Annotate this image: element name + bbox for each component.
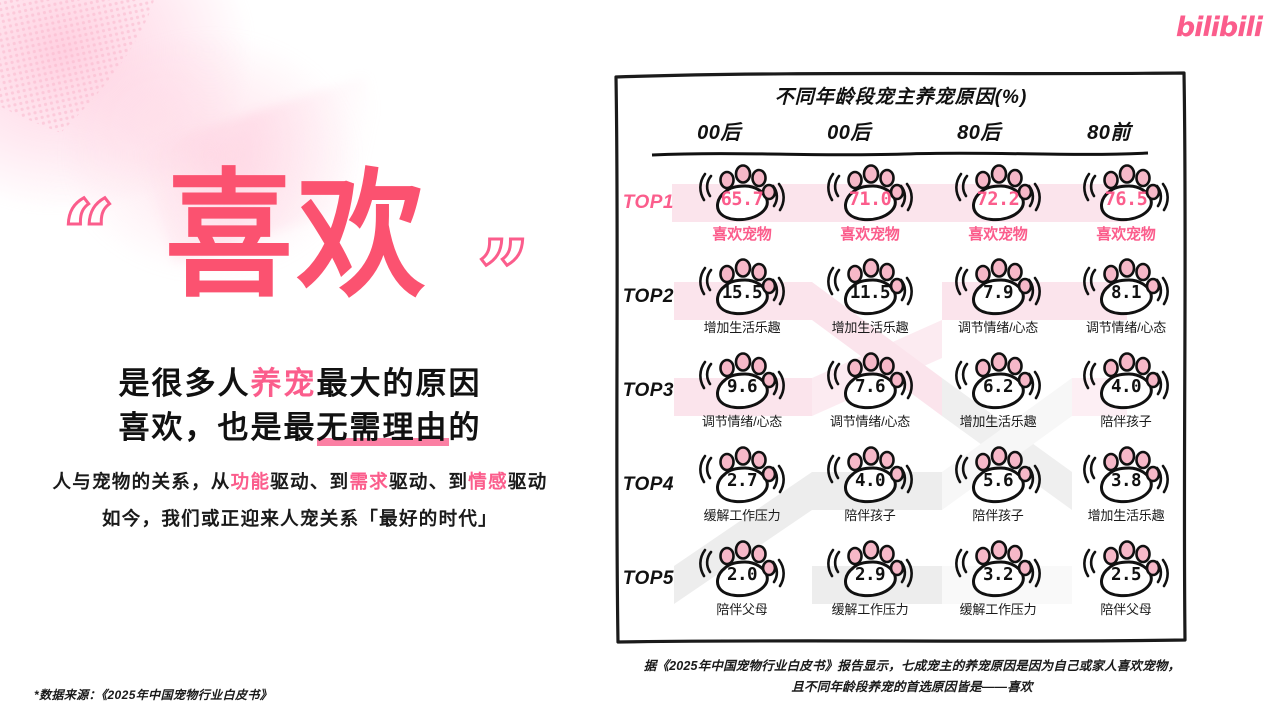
cell-value: 4.0 xyxy=(1083,377,1169,397)
paw-icon: 7.6 xyxy=(827,348,913,410)
cell-label: 调节情绪/心态 xyxy=(830,411,910,430)
body-text-block: 人与宠物的关系，从功能驱动、到需求驱动、到情感驱动 如今，我们或正迎来人宠关系「… xyxy=(0,463,600,537)
cell-label: 陪伴孩子 xyxy=(972,505,1023,524)
cell-value: 2.7 xyxy=(699,471,785,491)
subheadline-2-before: 喜欢，也是最 xyxy=(119,410,317,445)
cell-value: 5.6 xyxy=(955,471,1041,491)
cell-label: 陪伴孩子 xyxy=(844,505,895,524)
cell: 7.6 调节情绪/心态 xyxy=(806,348,934,430)
paw-icon: 9.6 xyxy=(699,348,785,410)
paw-icon: 2.9 xyxy=(827,536,913,598)
body-text-line-2: 如今，我们或正迎来人宠关系「最好的时代」 xyxy=(0,500,600,537)
row-label-top5: TOP5 xyxy=(612,568,678,590)
cell-label: 增加生活乐趣 xyxy=(960,411,1037,430)
cell: 72.2 喜欢宠物 xyxy=(934,160,1062,244)
cell: 4.0 陪伴孩子 xyxy=(1062,348,1190,430)
cell-value: 7.6 xyxy=(827,377,913,397)
cell-label: 喜欢宠物 xyxy=(840,223,899,244)
cell-value: 2.0 xyxy=(699,565,785,585)
column-header-2: 00后 xyxy=(784,116,914,146)
cell-label: 缓解工作压力 xyxy=(832,599,909,618)
cell: 3.2 缓解工作压力 xyxy=(934,536,1062,618)
body-1-part-2: 驱动、到 xyxy=(270,471,349,492)
paw-icon: 2.5 xyxy=(1083,536,1169,598)
subheadline-block: 是很多人养宠最大的原因 喜欢，也是最无需理由的 xyxy=(0,362,600,450)
row-label-top3: TOP3 xyxy=(612,380,678,402)
cell: 8.1 调节情绪/心态 xyxy=(1062,254,1190,336)
cell-label: 陪伴父母 xyxy=(716,599,767,618)
cell-value: 65.7 xyxy=(699,189,785,210)
paw-icon: 65.7 xyxy=(699,160,785,222)
body-1-part-3: 驱动、到 xyxy=(389,471,468,492)
row-cells: 65.7 喜欢宠物 xyxy=(678,160,1190,244)
subheadline-line-1: 是很多人养宠最大的原因 xyxy=(0,362,600,406)
paw-icon: 7.9 xyxy=(955,254,1041,316)
cell-value: 15.5 xyxy=(699,283,785,303)
paw-icon: 4.0 xyxy=(827,442,913,504)
cell-value: 4.0 xyxy=(827,471,913,491)
chart-panel: 不同年龄段宠主养宠原因(%) 0 xyxy=(612,68,1190,646)
paw-icon: 2.0 xyxy=(699,536,785,598)
cell-label: 增加生活乐趣 xyxy=(704,317,781,336)
table-row: TOP3 xyxy=(612,348,1190,442)
cell: 71.0 喜欢宠物 xyxy=(806,160,934,244)
paw-icon: 4.0 xyxy=(1083,348,1169,410)
hero-headline: 喜欢 xyxy=(165,168,429,306)
cell-value: 72.2 xyxy=(955,189,1041,210)
cell: 76.5 喜欢宠物 xyxy=(1062,160,1190,244)
cell-label: 喜欢宠物 xyxy=(968,223,1027,244)
cell: 4.0 陪伴孩子 xyxy=(806,442,934,524)
cell: 2.9 缓解工作压力 xyxy=(806,536,934,618)
row-cells: 2.7 缓解工作压力 xyxy=(678,442,1190,524)
body-1-keyword-2: 需求 xyxy=(349,471,389,492)
cell-label: 陪伴孩子 xyxy=(1100,411,1151,430)
cell-label: 缓解工作压力 xyxy=(704,505,781,524)
cell-label: 缓解工作压力 xyxy=(960,599,1037,618)
cell: 5.6 陪伴孩子 xyxy=(934,442,1062,524)
cell-value: 76.5 xyxy=(1083,189,1169,210)
header-underline xyxy=(650,150,1150,158)
cell: 6.2 增加生活乐趣 xyxy=(934,348,1062,430)
body-1-keyword-1: 功能 xyxy=(231,471,271,492)
subheadline-2-after: 的 xyxy=(449,410,482,445)
chart-column-headers: 00后 00后 80后 80前 xyxy=(654,116,1174,146)
table-row: TOP5 xyxy=(612,536,1190,630)
row-cells: 2.0 陪伴父母 xyxy=(678,536,1190,618)
subheadline-1-before: 是很多人 xyxy=(119,366,251,401)
cell-label: 调节情绪/心态 xyxy=(958,317,1038,336)
column-header-4: 80前 xyxy=(1044,116,1174,146)
quote-open-icon: “ xyxy=(62,188,115,280)
table-row: TOP4 xyxy=(612,442,1190,536)
cell-value: 2.9 xyxy=(827,565,913,585)
left-content-panel: “ 喜欢 ” 是很多人养宠最大的原因 喜欢，也是最无需理由的 人与宠物的关系，从… xyxy=(0,0,600,720)
cell-label: 增加生活乐趣 xyxy=(1088,505,1165,524)
cell-label: 增加生活乐趣 xyxy=(832,317,909,336)
cell-label: 调节情绪/心态 xyxy=(702,411,782,430)
cell: 3.8 增加生活乐趣 xyxy=(1062,442,1190,524)
table-row: TOP1 xyxy=(612,160,1190,254)
table-row: TOP2 xyxy=(612,254,1190,348)
subheadline-1-after: 最大的原因 xyxy=(317,366,482,401)
cell-value: 2.5 xyxy=(1083,565,1169,585)
paw-icon: 5.6 xyxy=(955,442,1041,504)
cell: 2.5 陪伴父母 xyxy=(1062,536,1190,618)
cell-value: 6.2 xyxy=(955,377,1041,397)
cell-value: 3.8 xyxy=(1083,471,1169,491)
subheadline-1-keyword: 养宠 xyxy=(251,366,317,401)
paw-icon: 11.5 xyxy=(827,254,913,316)
paw-icon: 76.5 xyxy=(1083,160,1169,222)
row-cells: 15.5 增加生活乐趣 xyxy=(678,254,1190,336)
chart-caption: 据《2025年中国宠物行业白皮书》报告显示，七成宠主的养宠原因是因为自己或家人喜… xyxy=(612,656,1212,697)
paw-icon: 8.1 xyxy=(1083,254,1169,316)
cell: 9.6 调节情绪/心态 xyxy=(678,348,806,430)
cell: 2.7 缓解工作压力 xyxy=(678,442,806,524)
body-text-line-1: 人与宠物的关系，从功能驱动、到需求驱动、到情感驱动 xyxy=(0,463,600,500)
cell-value: 7.9 xyxy=(955,283,1041,303)
paw-icon: 72.2 xyxy=(955,160,1041,222)
paw-icon: 3.8 xyxy=(1083,442,1169,504)
chart-rows: TOP1 xyxy=(612,160,1190,630)
cell-value: 8.1 xyxy=(1083,283,1169,303)
cell: 7.9 调节情绪/心态 xyxy=(934,254,1062,336)
row-cells: 9.6 调节情绪/心态 xyxy=(678,348,1190,430)
paw-icon: 15.5 xyxy=(699,254,785,316)
cell: 2.0 陪伴父母 xyxy=(678,536,806,618)
cell-value: 11.5 xyxy=(827,283,913,303)
cell-label: 调节情绪/心态 xyxy=(1086,317,1166,336)
cell: 65.7 喜欢宠物 xyxy=(678,160,806,244)
cell: 15.5 增加生活乐趣 xyxy=(678,254,806,336)
paw-icon: 6.2 xyxy=(955,348,1041,410)
subheadline-line-2: 喜欢，也是最无需理由的 xyxy=(0,406,600,450)
body-1-part-4: 驱动 xyxy=(508,471,548,492)
body-1-part-1: 人与宠物的关系，从 xyxy=(52,471,230,492)
chart-inner: 不同年龄段宠主养宠原因(%) 0 xyxy=(612,68,1190,646)
bilibili-logo-text: bilibili xyxy=(1176,14,1262,41)
cell-label: 陪伴父母 xyxy=(1100,599,1151,618)
data-source-note: *数据来源：《2025年中国宠物行业白皮书》 xyxy=(34,686,272,703)
body-1-keyword-3: 情感 xyxy=(468,471,508,492)
paw-icon: 71.0 xyxy=(827,160,913,222)
cell: 11.5 增加生活乐趣 xyxy=(806,254,934,336)
row-label-top4: TOP4 xyxy=(612,474,678,496)
column-header-1: 00后 xyxy=(654,116,784,146)
cell-label: 喜欢宠物 xyxy=(712,223,771,244)
quote-close-icon: ” xyxy=(477,228,530,320)
caption-line-1: 据《2025年中国宠物行业白皮书》报告显示，七成宠主的养宠原因是因为自己或家人喜… xyxy=(612,656,1212,677)
cell-value: 71.0 xyxy=(827,189,913,210)
cell-value: 3.2 xyxy=(955,565,1041,585)
paw-icon: 3.2 xyxy=(955,536,1041,598)
paw-icon: 2.7 xyxy=(699,442,785,504)
row-label-top1: TOP1 xyxy=(612,192,678,214)
subheadline-2-highlight: 无需理由 xyxy=(317,410,449,446)
cell-value: 9.6 xyxy=(699,377,785,397)
row-label-top2: TOP2 xyxy=(612,286,678,308)
caption-line-2: 且不同年龄段养宠的首选原因皆是——喜欢 xyxy=(612,677,1212,698)
cell-label: 喜欢宠物 xyxy=(1096,223,1155,244)
hero-quote-block: “ 喜欢 ” xyxy=(62,168,562,318)
bilibili-logo: bilibili xyxy=(1176,14,1262,41)
column-header-3: 80后 xyxy=(914,116,1044,146)
